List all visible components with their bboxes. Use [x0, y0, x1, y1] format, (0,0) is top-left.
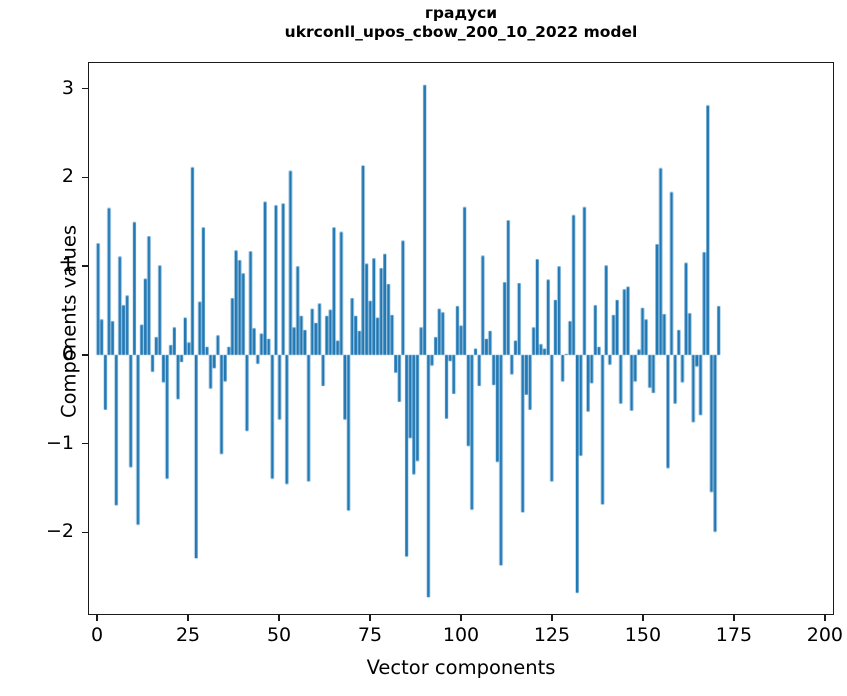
- x-tick-mark: [824, 615, 826, 621]
- x-axis-label: Vector components: [88, 656, 834, 679]
- x-tick-label: 50: [267, 624, 291, 646]
- x-tick-mark: [551, 615, 553, 621]
- x-tick-label: 175: [716, 624, 752, 646]
- x-tick-mark: [278, 615, 280, 621]
- y-tick-label: 3: [62, 79, 74, 98]
- x-tick-mark: [460, 615, 462, 621]
- x-tick-mark: [733, 615, 735, 621]
- chart-title: градуси ukrconll_upos_cbow_200_10_2022 m…: [88, 4, 834, 42]
- figure-canvas: градуси ukrconll_upos_cbow_200_10_2022 m…: [0, 0, 847, 696]
- x-tick-label: 150: [625, 624, 661, 646]
- plot-area: [88, 62, 834, 615]
- x-tick-label: 200: [807, 624, 843, 646]
- x-tick-label: 75: [358, 624, 382, 646]
- bar-series-canvas: [89, 63, 833, 614]
- x-tick-mark: [187, 615, 189, 621]
- y-tick-label: −2: [46, 522, 74, 541]
- x-tick-label: 25: [176, 624, 200, 646]
- x-tick-label: 100: [443, 624, 479, 646]
- x-tick-mark: [96, 615, 98, 621]
- x-tick-label: 125: [534, 624, 570, 646]
- y-axis-label: Components values: [58, 132, 81, 512]
- chart-title-line1: градуси: [88, 4, 834, 23]
- x-tick-mark: [642, 615, 644, 621]
- x-tick-mark: [369, 615, 371, 621]
- chart-title-line2: ukrconll_upos_cbow_200_10_2022 model: [88, 23, 834, 42]
- x-tick-label: 0: [91, 624, 103, 646]
